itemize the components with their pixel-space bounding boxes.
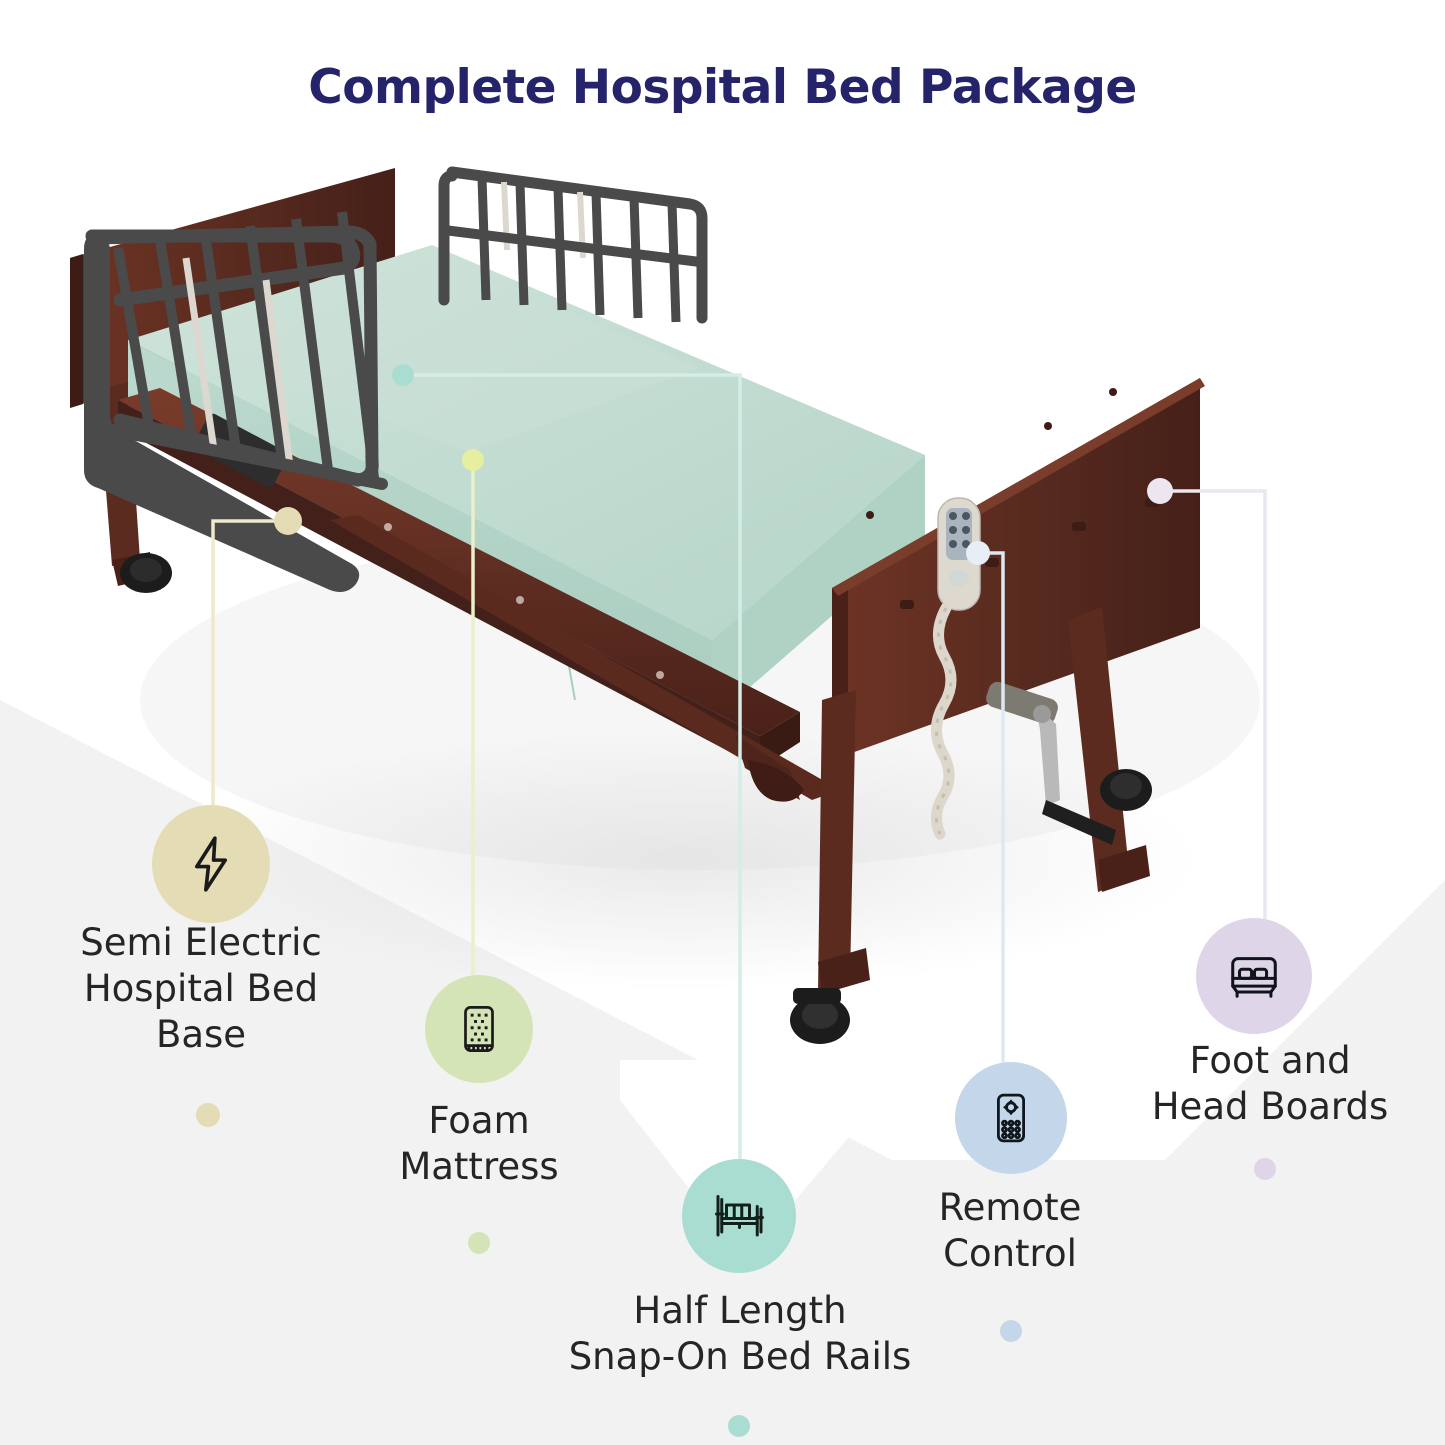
badge-semi-electric-bed-base[interactable]: [152, 805, 270, 923]
remote-control-icon: [983, 1090, 1039, 1146]
feature-label-semi-electric-bed-base: Semi Electric Hospital Bed Base: [15, 920, 387, 1058]
accent-dot-foot-head-boards: [1254, 1158, 1276, 1180]
accent-dot-bed-rails: [728, 1415, 750, 1437]
infographic-canvas: Complete Hospital Bed Package: [0, 0, 1445, 1445]
lightning-bolt-icon: [180, 833, 242, 895]
badge-remote-control[interactable]: [955, 1062, 1067, 1174]
accent-dot-foam-mattress: [468, 1232, 490, 1254]
feature-label-half-length-snap-on-bed-rails: Half Length Snap-On Bed Rails: [510, 1288, 970, 1380]
far-side-rail: [444, 172, 702, 322]
feature-label-foot-and-head-boards: Foot and Head Boards: [1105, 1038, 1435, 1130]
badge-half-length-snap-on-bed-rails[interactable]: [682, 1159, 796, 1273]
mattress-icon: [452, 1002, 506, 1056]
badge-foot-and-head-boards[interactable]: [1196, 918, 1312, 1034]
accent-dot-semi-electric: [196, 1103, 220, 1127]
feature-label-foam-mattress: Foam Mattress: [310, 1098, 648, 1190]
headboard-icon: [1225, 947, 1283, 1005]
feature-label-remote-control: Remote Control: [870, 1185, 1150, 1277]
accent-dot-remote-control: [1000, 1320, 1022, 1342]
foot-leg-left: [818, 690, 856, 992]
badge-foam-mattress[interactable]: [425, 975, 533, 1083]
bed-rail-icon: [709, 1186, 769, 1246]
